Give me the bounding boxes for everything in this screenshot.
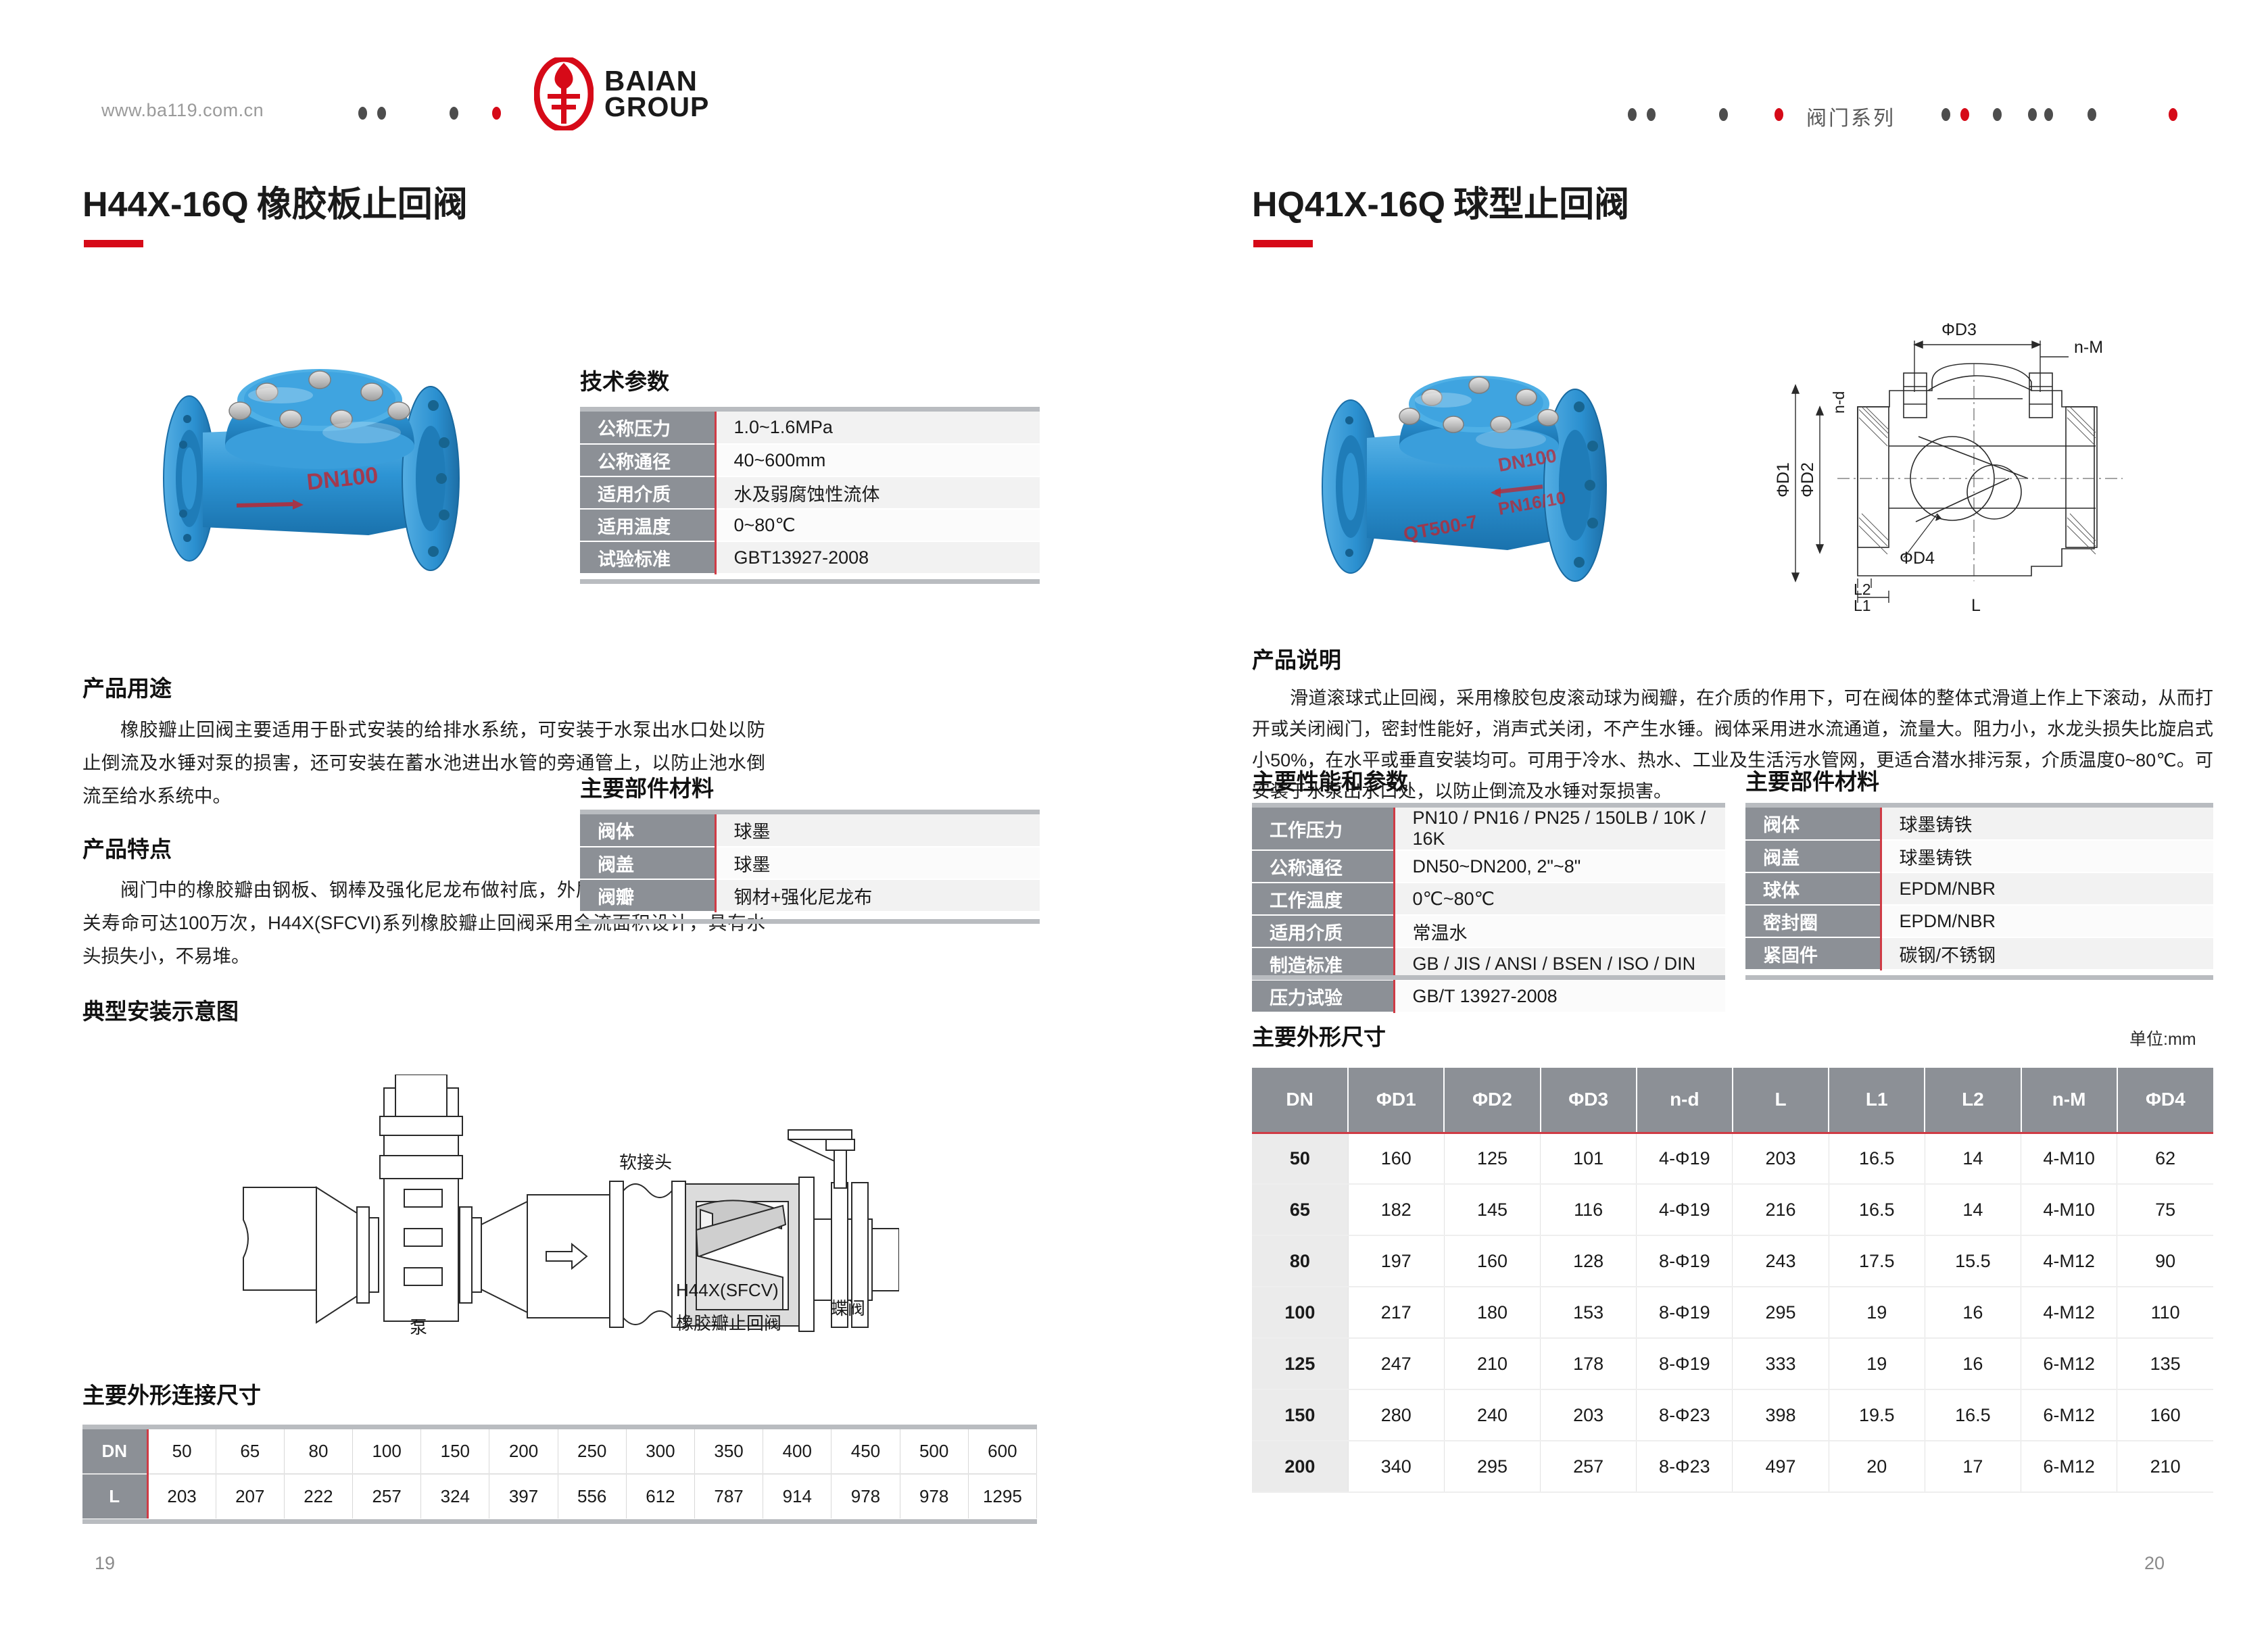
right-dimension-table: DNΦD1ΦD2ΦD3n-dLL1L2n-MΦD4 501601251014-Φ… (1252, 1068, 2213, 1493)
table-cell: 787 (695, 1474, 763, 1519)
dim-label-l1: L1 (1854, 597, 1871, 614)
diagram-label-check-valve-line2: 橡胶瓣止回阀 (676, 1310, 781, 1335)
table-cell: 295 (1733, 1287, 1829, 1338)
table-cell: 4-Φ19 (1637, 1184, 1733, 1235)
row-label: 工作温度 (1252, 883, 1394, 915)
row-value: 0~80℃ (715, 509, 1040, 541)
right-title-rule (1253, 240, 1313, 247)
left-page-title: H44X-16Q橡胶板止回阀 (82, 176, 468, 226)
table-cell: 217 (1348, 1287, 1444, 1338)
table-cell: 210 (2117, 1441, 2213, 1492)
table-cell: 497 (1733, 1441, 1829, 1492)
table-cell: 160 (1444, 1235, 1540, 1287)
performance-table: 工作压力PN10 / PN16 / PN25 / 150LB / 10K / 1… (1252, 808, 1725, 1013)
table-cell: 250 (558, 1429, 626, 1474)
table-header-row: DNΦD1ΦD2ΦD3n-dLL1L2n-MΦD4 (1252, 1068, 2213, 1133)
dim-label-nd: n-d (1830, 391, 1848, 414)
row-label: 公称压力 (580, 412, 715, 444)
table-cell: 398 (1733, 1389, 1829, 1441)
table-cell: 6-M12 (2021, 1389, 2117, 1441)
table-cap-top (1252, 803, 1725, 808)
table-cell: 128 (1541, 1235, 1637, 1287)
left-page-number: 19 (95, 1553, 115, 1574)
right-title-cn: 球型止回阀 (1453, 185, 1629, 224)
right-dim-heading: 主要外形尺寸 (1252, 1019, 1386, 1052)
row-value: 球墨铸铁 (1881, 840, 2213, 872)
table-cell: 8-Φ19 (1637, 1287, 1733, 1338)
table-cell: 150 (1252, 1389, 1348, 1441)
row-value: GBT13927-2008 (715, 541, 1040, 574)
table-cell: 110 (2117, 1287, 2213, 1338)
table-cap-bottom (580, 579, 1040, 584)
row-label: 公称通径 (580, 444, 715, 476)
table-cell: 153 (1541, 1287, 1637, 1338)
decorative-dot (1960, 108, 1969, 121)
table-cap-bottom (1252, 975, 1725, 980)
row-label: 阀瓣 (580, 879, 715, 912)
table-cap-top (82, 1425, 1037, 1429)
row-label: 适用介质 (580, 476, 715, 509)
table-cap-top (580, 407, 1040, 412)
table-row: 1502802402038-Φ2339819.516.56-M12160 (1252, 1389, 2213, 1441)
table-cell: 4-M10 (2021, 1184, 2117, 1235)
performance-heading: 主要性能和参数 (1252, 764, 1408, 796)
table-cell: 257 (1541, 1441, 1637, 1492)
table-cell: 8-Φ23 (1637, 1389, 1733, 1441)
row-label: 公称通径 (1252, 850, 1394, 883)
row-label: 压力试验 (1252, 980, 1394, 1012)
brand-line-1: BAIAN (604, 68, 709, 95)
left-materials-heading: 主要部件材料 (580, 770, 714, 803)
row-label: 球体 (1745, 872, 1881, 905)
table-row: 阀瓣钢材+强化尼龙布 (580, 879, 1040, 912)
table-row: 试验标准GBT13927-2008 (580, 541, 1040, 574)
column-header: ΦD3 (1541, 1068, 1637, 1133)
dim-label-nm: n-M (2074, 338, 2103, 357)
decorative-dot (2088, 108, 2096, 121)
left-materials-table: 阀体球墨阀盖球墨阀瓣钢材+强化尼龙布 (580, 814, 1040, 912)
site-url: www.ba119.com.cn (101, 100, 264, 121)
table-cap-top (580, 810, 1040, 814)
column-header: ΦD1 (1348, 1068, 1444, 1133)
left-title-rule (84, 240, 143, 247)
table-row: DN506580100150200250300350400450500600 (82, 1429, 1037, 1474)
hq41x-technical-drawing: ΦD3 n-M n-d ΦD1 ΦD2 ΦD4 L2 L1 L (1771, 311, 2217, 615)
table-cell: 8-Φ23 (1637, 1441, 1733, 1492)
baian-emblem-icon (534, 57, 594, 130)
table-cell: 75 (2117, 1184, 2213, 1235)
table-cell: 16.5 (1829, 1133, 1925, 1184)
table-row: 压力试验GB/T 13927-2008 (1252, 980, 1725, 1012)
table-cell: 203 (1541, 1389, 1637, 1441)
row-label: 密封圈 (1745, 905, 1881, 937)
table-row: 公称通径40~600mm (580, 444, 1040, 476)
row-label: 阀体 (1745, 808, 1881, 840)
decorative-dot (1775, 108, 1783, 121)
table-row: 工作温度0℃~80℃ (1252, 883, 1725, 915)
left-dimension-table: DN506580100150200250300350400450500600L2… (82, 1429, 1037, 1519)
table-row: 651821451164-Φ1921616.5144-M1075 (1252, 1184, 2213, 1235)
tech-params-heading: 技术参数 (580, 364, 669, 396)
table-cell: 324 (421, 1474, 489, 1519)
table-cell: 14 (1925, 1133, 2021, 1184)
usage-heading: 产品用途 (82, 670, 172, 703)
decorative-dot (2028, 108, 2037, 121)
table-cell: 100 (353, 1429, 421, 1474)
right-page-number: 20 (2144, 1553, 2165, 1574)
table-cell: 16 (1925, 1287, 2021, 1338)
table-row: 适用介质水及弱腐蚀性流体 (580, 476, 1040, 509)
table-cell: 247 (1348, 1338, 1444, 1389)
dim-label-phid3: ΦD3 (1941, 320, 1977, 339)
table-cell: 160 (1348, 1133, 1444, 1184)
brand-wordmark: BAIAN GROUP (604, 68, 709, 121)
table-cell: 295 (1444, 1441, 1540, 1492)
table-cell: 15.5 (1925, 1235, 2021, 1287)
table-row: 紧固件碳钢/不锈钢 (1745, 937, 2213, 970)
table-cell: 135 (2117, 1338, 2213, 1389)
table-cell: 397 (489, 1474, 558, 1519)
table-cell: 350 (695, 1429, 763, 1474)
table-row: 适用介质常温水 (1252, 915, 1725, 947)
table-cell: 16.5 (1925, 1389, 2021, 1441)
table-cell: 50 (1252, 1133, 1348, 1184)
left-title-code: H44X-16Q (82, 185, 249, 224)
table-row: 1252472101788-Φ1933319166-M12135 (1252, 1338, 2213, 1389)
h44x-valve-photo: DN100 (139, 324, 558, 608)
row-value: DN50~DN200, 2"~8" (1394, 850, 1725, 883)
table-cell: 556 (558, 1474, 626, 1519)
row-label: 试验标准 (580, 541, 715, 574)
column-header: L2 (1925, 1068, 2021, 1133)
table-cell: 160 (2117, 1389, 2213, 1441)
table-row: 501601251014-Φ1920316.5144-M1062 (1252, 1133, 2213, 1184)
table-cell: 197 (1348, 1235, 1444, 1287)
decorative-dot (1993, 108, 2002, 121)
table-cell: 257 (353, 1474, 421, 1519)
table-cell: 4-M12 (2021, 1287, 2117, 1338)
table-row: 阀体球墨 (580, 814, 1040, 847)
table-row: 球体EPDM/NBR (1745, 872, 2213, 905)
table-cell: 65 (216, 1429, 284, 1474)
row-label: 适用温度 (580, 509, 715, 541)
table-cell: 600 (968, 1429, 1036, 1474)
hq41x-valve-photo: DN100 PN16/10 QT500-7 (1284, 318, 1690, 601)
table-cell: 8-Φ19 (1637, 1235, 1733, 1287)
row-label: 适用介质 (1252, 915, 1394, 947)
row-value: EPDM/NBR (1881, 905, 2213, 937)
table-cell: 978 (831, 1474, 900, 1519)
row-value: PN10 / PN16 / PN25 / 150LB / 10K / 16K (1394, 808, 1725, 850)
table-cap-bottom (82, 1519, 1037, 1524)
decorative-dot (1628, 108, 1637, 121)
row-value: 40~600mm (715, 444, 1040, 476)
diagram-label-pump: 泵 (410, 1314, 427, 1339)
table-cell: 333 (1733, 1338, 1829, 1389)
dim-label-l: L (1971, 596, 1981, 615)
table-cell: 1295 (968, 1474, 1036, 1519)
table-cell: 62 (2117, 1133, 2213, 1184)
row-header: L (82, 1474, 147, 1519)
table-cell: 16.5 (1829, 1184, 1925, 1235)
brand-line-2: GROUP (604, 94, 709, 120)
right-materials-table: 阀体球墨铸铁阀盖球墨铸铁球体EPDM/NBR密封圈EPDM/NBR紧固件碳钢/不… (1745, 808, 2213, 970)
table-row: 阀盖球墨 (580, 847, 1040, 879)
diagram-label-flex-joint: 软接头 (619, 1149, 672, 1174)
row-value: 0℃~80℃ (1394, 883, 1725, 915)
row-label: 阀盖 (580, 847, 715, 879)
column-header: L1 (1829, 1068, 1925, 1133)
table-row: 适用温度0~80℃ (580, 509, 1040, 541)
table-cell: 4-Φ19 (1637, 1133, 1733, 1184)
decorative-dot (1941, 108, 1950, 121)
dim-label-phid4: ΦD4 (1900, 549, 1935, 568)
table-cell: 4-M12 (2021, 1235, 2117, 1287)
install-diagram-heading: 典型安装示意图 (82, 993, 239, 1026)
table-cell: 400 (763, 1429, 831, 1474)
table-cell: 340 (1348, 1441, 1444, 1492)
table-cell: 19 (1829, 1287, 1925, 1338)
row-value: 碳钢/不锈钢 (1881, 937, 2213, 970)
table-cell: 16 (1925, 1338, 2021, 1389)
table-cell: 150 (421, 1429, 489, 1474)
row-value: 球墨 (715, 814, 1040, 847)
table-cell: 207 (216, 1474, 284, 1519)
decorative-dot (1719, 108, 1728, 121)
decorative-dot (2044, 108, 2053, 121)
dim-label-phid1: ΦD1 (1774, 462, 1793, 497)
table-cell: 914 (763, 1474, 831, 1519)
table-cap-bottom (1745, 975, 2213, 980)
features-heading: 产品特点 (82, 831, 172, 864)
row-label: 阀盖 (1745, 840, 1881, 872)
table-cell: 100 (1252, 1287, 1348, 1338)
table-row: 1002171801538-Φ1929519164-M12110 (1252, 1287, 2213, 1338)
column-header: DN (1252, 1068, 1348, 1133)
table-row: 公称压力1.0~1.6MPa (580, 412, 1040, 444)
row-value: GB/T 13927-2008 (1394, 980, 1725, 1012)
decorative-dot (450, 107, 458, 120)
page-header: www.ba119.com.cn BAIAN GROUP (0, 0, 2268, 155)
table-cell: 20 (1829, 1441, 1925, 1492)
table-cell: 101 (1541, 1133, 1637, 1184)
table-cell: 19 (1829, 1338, 1925, 1389)
decorative-dot (377, 107, 386, 120)
table-cell: 300 (626, 1429, 694, 1474)
row-value: 钢材+强化尼龙布 (715, 879, 1040, 912)
table-cell: 200 (1252, 1441, 1348, 1492)
table-cell: 80 (284, 1429, 352, 1474)
table-cell: 210 (1444, 1338, 1540, 1389)
table-cell: 203 (1733, 1133, 1829, 1184)
table-cell: 8-Φ19 (1637, 1338, 1733, 1389)
table-cell: 280 (1348, 1389, 1444, 1441)
table-cell: 50 (147, 1429, 216, 1474)
table-cell: 200 (489, 1429, 558, 1474)
row-value: 水及弱腐蚀性流体 (715, 476, 1040, 509)
table-cell: 178 (1541, 1338, 1637, 1389)
column-header: L (1733, 1068, 1829, 1133)
decorative-dot (492, 107, 501, 120)
table-cap-bottom (580, 919, 1040, 924)
diagram-label-check-valve-line1: H44X(SFCV) (676, 1280, 779, 1301)
brand-logo: BAIAN GROUP (534, 57, 709, 130)
table-cell: 203 (147, 1474, 216, 1519)
table-cell: 180 (1444, 1287, 1540, 1338)
dim-unit-label: 单位:mm (2129, 1026, 2196, 1050)
table-row: 密封圈EPDM/NBR (1745, 905, 2213, 937)
table-cell: 240 (1444, 1389, 1540, 1441)
column-header: ΦD2 (1444, 1068, 1540, 1133)
table-row: L203207222257324397556612787914978978129… (82, 1474, 1037, 1519)
row-value: EPDM/NBR (1881, 872, 2213, 905)
table-cell: 80 (1252, 1235, 1348, 1287)
left-title-cn: 橡胶板止回阀 (257, 185, 468, 224)
row-value: 球墨 (715, 847, 1040, 879)
table-cell: 182 (1348, 1184, 1444, 1235)
table-cell: 14 (1925, 1184, 2021, 1235)
table-cell: 145 (1444, 1184, 1540, 1235)
dim-label-phid2: ΦD2 (1798, 462, 1817, 497)
table-cell: 500 (900, 1429, 968, 1474)
left-dim-heading: 主要外形连接尺寸 (82, 1377, 261, 1410)
row-label: 紧固件 (1745, 937, 1881, 970)
row-value: 常温水 (1394, 915, 1725, 947)
table-cell: 450 (831, 1429, 900, 1474)
dim-label-l2: L2 (1854, 581, 1871, 598)
series-label: 阀门系列 (1806, 101, 1896, 131)
table-cell: 216 (1733, 1184, 1829, 1235)
row-value: 球墨铸铁 (1881, 808, 2213, 840)
table-cell: 612 (626, 1474, 694, 1519)
table-cell: 17 (1925, 1441, 2021, 1492)
table-cell: 19.5 (1829, 1389, 1925, 1441)
decorative-dot (1647, 108, 1656, 121)
diagram-label-butterfly-valve: 蝶阀 (830, 1295, 865, 1320)
table-cell: 6-M12 (2021, 1338, 2117, 1389)
table-row: 工作压力PN10 / PN16 / PN25 / 150LB / 10K / 1… (1252, 808, 1725, 850)
right-page-title: HQ41X-16Q球型止回阀 (1252, 176, 1629, 226)
table-cell: 978 (900, 1474, 968, 1519)
table-row: 阀盖球墨铸铁 (1745, 840, 2213, 872)
row-label: 阀体 (580, 814, 715, 847)
column-header: n-M (2021, 1068, 2117, 1133)
table-row: 阀体球墨铸铁 (1745, 808, 2213, 840)
column-header: ΦD4 (2117, 1068, 2213, 1133)
right-description-heading: 产品说明 (1252, 642, 1341, 674)
row-label: 工作压力 (1252, 808, 1394, 850)
catalog-spread: www.ba119.com.cn BAIAN GROUP (0, 0, 2268, 1628)
table-row: 2003402952578-Φ2349720176-M12210 (1252, 1441, 2213, 1492)
table-cell: 222 (284, 1474, 352, 1519)
decorative-dot (2169, 108, 2177, 121)
row-value: 1.0~1.6MPa (715, 412, 1040, 444)
table-cell: 90 (2117, 1235, 2213, 1287)
tech-params-table: 公称压力1.0~1.6MPa公称通径40~600mm适用介质水及弱腐蚀性流体适用… (580, 412, 1040, 574)
table-cell: 4-M10 (2021, 1133, 2117, 1184)
table-row: 801971601288-Φ1924317.515.54-M1290 (1252, 1235, 2213, 1287)
table-cell: 243 (1733, 1235, 1829, 1287)
table-cell: 125 (1444, 1133, 1540, 1184)
table-cell: 65 (1252, 1184, 1348, 1235)
row-header: DN (82, 1429, 147, 1474)
right-title-code: HQ41X-16Q (1252, 185, 1445, 224)
column-header: n-d (1637, 1068, 1733, 1133)
typical-installation-diagram (223, 1075, 899, 1345)
table-cell: 17.5 (1829, 1235, 1925, 1287)
decorative-dot (358, 107, 367, 120)
table-row: 公称通径DN50~DN200, 2"~8" (1252, 850, 1725, 883)
table-cap-top (1745, 803, 2213, 808)
table-cell: 6-M12 (2021, 1441, 2117, 1492)
right-materials-heading: 主要部件材料 (1745, 764, 1879, 796)
table-cell: 125 (1252, 1338, 1348, 1389)
table-cell: 116 (1541, 1184, 1637, 1235)
